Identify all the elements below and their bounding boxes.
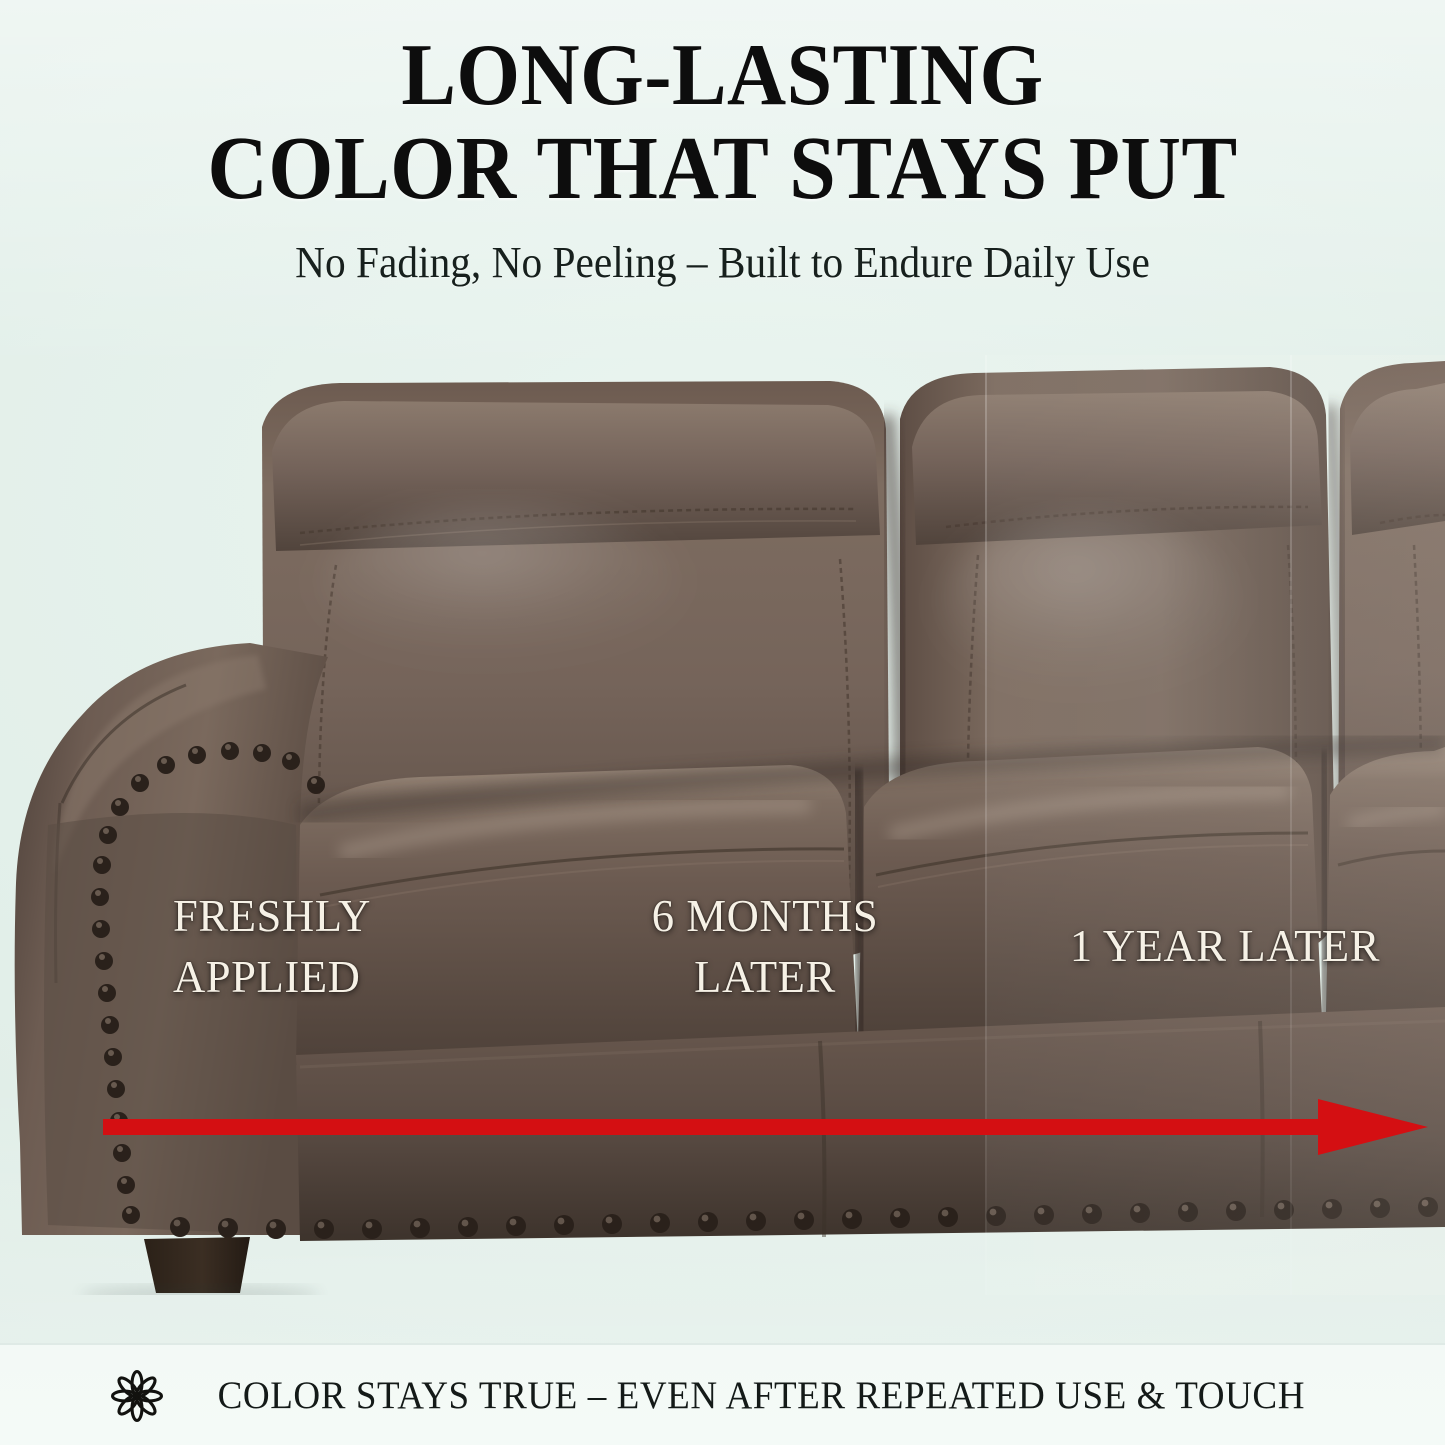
promo-image: LONG-LASTING COLOR THAT STAYS PUT No Fad… [0, 0, 1445, 1445]
headline-line-2: COLOR THAT STAYS PUT [51, 126, 1395, 212]
headline-line-1: LONG-LASTING [401, 27, 1043, 124]
header-block: LONG-LASTING COLOR THAT STAYS PUT No Fad… [0, 34, 1445, 288]
flower-rosette-icon [111, 1370, 163, 1422]
subheadline: No Fading, No Peeling – Built to Endure … [43, 237, 1401, 288]
bottom-banner: COLOR STAYS TRUE – EVEN AFTER REPEATED U… [0, 1343, 1445, 1445]
label-freshly-applied: FRESHLY APPLIED [173, 886, 493, 1007]
banner-text: COLOR STAYS TRUE – EVEN AFTER REPEATED U… [218, 1373, 1305, 1418]
timeline-arrow [0, 1080, 1445, 1180]
headline: LONG-LASTING COLOR THAT STAYS PUT [51, 34, 1395, 213]
sofa-leg [144, 1237, 250, 1293]
label-six-months-later: 6 MONTHS LATER [605, 886, 925, 1007]
label-one-year-later: 1 YEAR LATER [1046, 916, 1405, 977]
